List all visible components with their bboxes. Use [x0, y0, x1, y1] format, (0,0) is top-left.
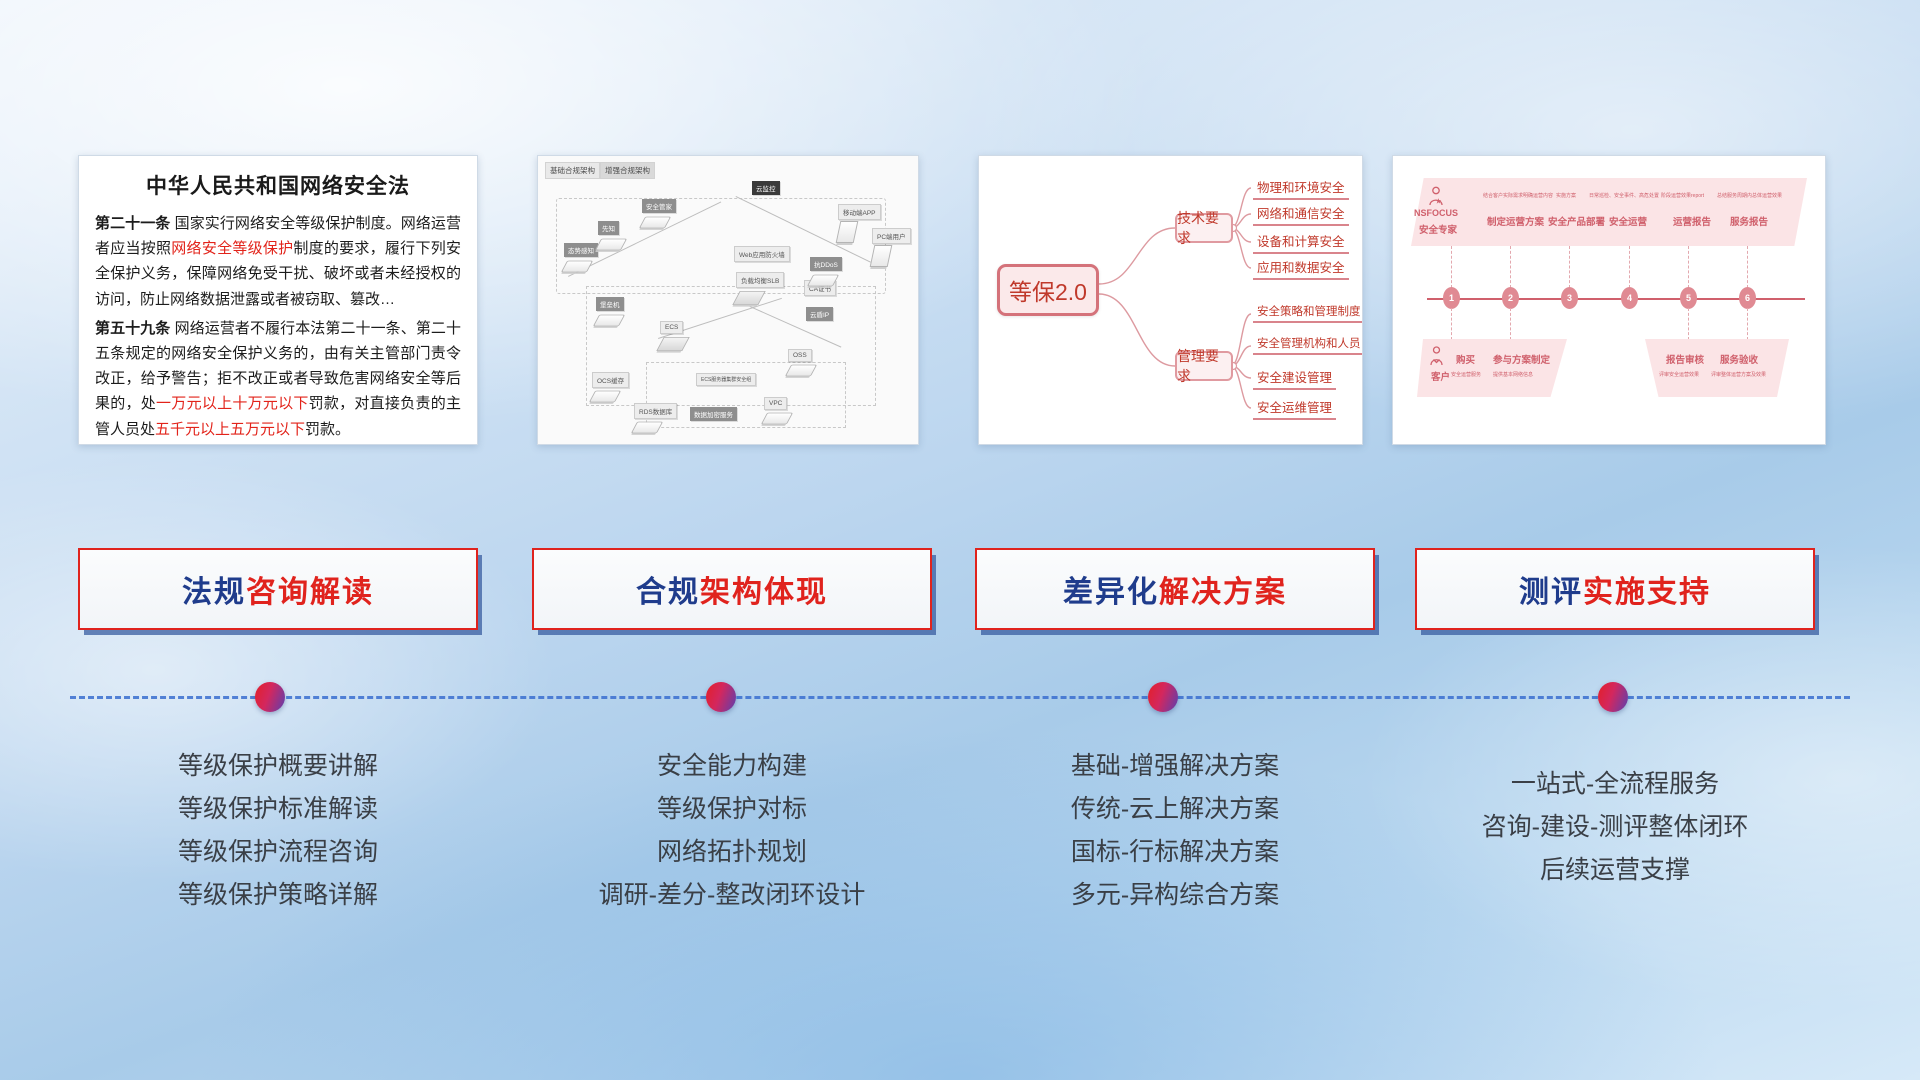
heading-text: 法规咨询解读 — [182, 567, 374, 611]
list-item: 等级保护流程咨询 — [78, 831, 478, 874]
arch-node-xianzhi: 先知 — [598, 218, 624, 252]
customer-label: 客户 — [1431, 369, 1450, 383]
list-item: 国标-行标解决方案 — [975, 831, 1375, 874]
bottom-left-step-2-sub: 提供基本网络信息 — [1493, 371, 1533, 378]
law-article-59-highlight-1: 一万元以上十万元以下 — [156, 395, 309, 412]
law-article-21-label: 第二十一条 — [95, 215, 170, 232]
list-item: 多元-异构综合方案 — [975, 874, 1375, 917]
list-item: 后续运营支撑 — [1415, 849, 1815, 892]
top-step-3-title: 安全运营 — [1609, 214, 1647, 228]
connector-tick — [1510, 246, 1511, 288]
heading-text: 差异化解决方案 — [1063, 567, 1287, 611]
law-article-21-highlight: 网络安全等级保护 — [171, 240, 293, 257]
list-item: 等级保护概要讲解 — [78, 745, 478, 788]
top-step-4-title: 运营报告 — [1673, 214, 1711, 228]
top-step-2-title: 安全产品部署 — [1548, 214, 1605, 228]
law-article-59-text-c: 罚款。 — [305, 421, 350, 438]
top-step-4-sub: 阶段运营效果report — [1661, 192, 1704, 199]
heading-text: 测评实施支持 — [1519, 567, 1711, 611]
list-item: 一站式-全流程服务 — [1415, 763, 1815, 806]
connector-tick — [1747, 308, 1748, 340]
top-step-2-sub: 实施方案 — [1556, 192, 1576, 199]
card-cybersecurity-law: 中华人民共和国网络安全法 第二十一条 国家实行网络安全等级保护制度。网络运营者应… — [78, 155, 478, 445]
heading-box-assessment-support[interactable]: 测评实施支持 — [1415, 548, 1815, 630]
heading-part-b: 实施支持 — [1583, 576, 1711, 609]
bottom-right-step-2-sub: 评审整体运营方案及效果 — [1711, 371, 1766, 378]
top-step-3-sub: 日常巡检、安全事件、高危处置 — [1589, 192, 1659, 199]
heading-part-b: 架构体现 — [700, 576, 828, 609]
customer-band-right — [1645, 339, 1795, 397]
list-item: 咨询-建设-测评整体闭环 — [1415, 806, 1815, 849]
connector-tick — [1569, 246, 1570, 288]
arch-tab-enhanced[interactable]: 增强合规架构 — [600, 162, 655, 179]
mindmap-leaf-security-construction: 安全建设管理 — [1253, 367, 1336, 390]
arch-node-cloud-monitor: 云监控 — [752, 178, 780, 196]
mindmap-branch-management: 管理要求 — [1175, 351, 1233, 381]
heading-part-a: 差异化 — [1063, 576, 1159, 609]
timeline-marker-2[interactable] — [706, 682, 736, 712]
arch-node-anti-ddos: 抗DDoS — [810, 254, 842, 288]
arch-node-data-encryption: 数据加密服务 — [690, 404, 737, 422]
connector-tick — [1510, 308, 1511, 340]
heading-part-b: 解决方案 — [1159, 576, 1287, 609]
bottom-left-step-1-sub: 安全运营服务 — [1451, 371, 1481, 378]
timeline-marker-1[interactable] — [255, 682, 285, 712]
customer-avatar-icon — [1429, 346, 1444, 370]
list-item: 等级保护策略详解 — [78, 874, 478, 917]
mindmap-leaf-security-org-personnel: 安全管理机构和人员 — [1253, 335, 1363, 355]
list-item: 网络拓扑规划 — [532, 831, 932, 874]
timeline-step-1: 1 — [1443, 287, 1460, 309]
law-article-21: 第二十一条 国家实行网络安全等级保护制度。网络运营者应当按照网络安全等级保护制度… — [95, 211, 461, 312]
heading-text: 合规架构体现 — [636, 567, 828, 611]
connector-tick — [1688, 246, 1689, 288]
mindmap-leaf-device-computing: 设备和计算安全 — [1253, 231, 1349, 254]
timeline-step-5: 5 — [1680, 287, 1697, 309]
mindmap-leaf-security-operations: 安全运维管理 — [1253, 397, 1336, 420]
timeline-marker-4[interactable] — [1598, 682, 1628, 712]
connector-tick — [1451, 308, 1452, 340]
arch-node-situational-awareness: 态势感知 — [564, 240, 598, 274]
arch-node-rds-database: RDS数据库 — [634, 401, 677, 435]
arch-node-security-steward: 安全管家 — [642, 196, 676, 230]
law-article-59-label: 第五十九条 — [95, 320, 170, 337]
list-regulation-consulting: 等级保护概要讲解 等级保护标准解读 等级保护流程咨询 等级保护策略详解 — [78, 745, 478, 917]
list-item: 传统-云上解决方案 — [975, 788, 1375, 831]
law-title: 中华人民共和国网络安全法 — [95, 170, 461, 200]
connector-tick — [1629, 246, 1630, 288]
bottom-left-step-2-title: 参与方案制定 — [1493, 352, 1550, 366]
bottom-right-step-1-title: 报告审核 — [1666, 352, 1704, 366]
heading-box-differentiated-solution[interactable]: 差异化解决方案 — [975, 548, 1375, 630]
expert-avatar-icon — [1428, 186, 1444, 210]
list-item: 调研-差分-整改闭环设计 — [532, 874, 932, 917]
heading-box-regulation-consulting[interactable]: 法规咨询解读 — [78, 548, 478, 630]
list-item: 等级保护标准解读 — [78, 788, 478, 831]
arch-node-ecs-security-group: ECS服务器集群安全组 — [696, 368, 756, 386]
list-differentiated-solution: 基础-增强解决方案 传统-云上解决方案 国标-行标解决方案 多元-异构综合方案 — [975, 745, 1375, 917]
mindmap-leaf-application-data: 应用和数据安全 — [1253, 257, 1349, 280]
top-step-5-sub: 总结服务周期内总体运营效果 — [1717, 192, 1782, 199]
nsfocus-expert-line2: 安全专家 — [1419, 222, 1457, 236]
bottom-right-step-2-title: 服务验收 — [1720, 352, 1758, 366]
heading-box-compliance-architecture[interactable]: 合规架构体现 — [532, 548, 932, 630]
card-compliance-architecture: 基础合规架构 增强合规架构 态势感知 先知 安全管家 — [537, 155, 919, 445]
arch-node-oss: OSS — [788, 344, 814, 378]
timeline-marker-3[interactable] — [1148, 682, 1178, 712]
arch-node-ecs: ECS — [660, 316, 686, 353]
nsfocus-expert-line1: NSFOCUS — [1414, 208, 1458, 218]
list-assessment-support: 一站式-全流程服务 咨询-建设-测评整体闭环 后续运营支撑 — [1415, 763, 1815, 892]
mindmap-leaf-physical-environment: 物理和环境安全 — [1253, 177, 1349, 200]
heading-part-a: 法规 — [182, 576, 246, 609]
bottom-right-step-1-sub: 评审安全运营效果 — [1659, 371, 1699, 378]
heading-part-a: 合规 — [636, 576, 700, 609]
timeline-step-6: 6 — [1739, 287, 1756, 309]
list-item: 安全能力构建 — [532, 745, 932, 788]
list-item: 基础-增强解决方案 — [975, 745, 1375, 788]
arch-node-ocs-cache: OCS缓存 — [592, 370, 629, 404]
top-step-1-sub: 结合客户实际需求明确运营内容 — [1483, 192, 1553, 199]
arch-tab-basic[interactable]: 基础合规架构 — [545, 162, 600, 179]
timeline-step-3: 3 — [1561, 287, 1578, 309]
arch-node-slb: 负载均衡SLB — [736, 270, 784, 307]
connector-tick — [1688, 308, 1689, 340]
law-article-59: 第五十九条 网络运营者不履行本法第二十一条、第二十五条规定的网络安全保护义务的，… — [95, 316, 461, 442]
heading-part-a: 测评 — [1519, 576, 1583, 609]
top-step-5-title: 服务报告 — [1730, 214, 1768, 228]
nsfocus-expert-band — [1411, 178, 1807, 246]
arch-node-cloud-shield-ip: 云盾IP — [806, 304, 833, 322]
connector-tick — [1747, 246, 1748, 288]
arch-node-bastion-host: 堡垒机 — [596, 294, 624, 328]
mindmap-branch-technical: 技术要求 — [1175, 213, 1233, 243]
heading-part-b: 咨询解读 — [246, 576, 374, 609]
mindmap-root: 等保2.0 — [997, 264, 1099, 316]
timeline-dashed-line — [70, 696, 1850, 699]
list-item: 等级保护对标 — [532, 788, 932, 831]
timeline-step-4: 4 — [1621, 287, 1638, 309]
arch-node-pc-user: PC端用户 — [872, 226, 911, 267]
card-nsfocus-service-timeline: NSFOCUS 安全专家 结合客户实际需求明确运营内容 制定运营方案 实施方案 … — [1392, 155, 1826, 445]
bottom-left-step-1-title: 购买 — [1456, 352, 1475, 366]
list-compliance-architecture: 安全能力构建 等级保护对标 网络拓扑规划 调研-差分-整改闭环设计 — [532, 745, 932, 917]
arch-node-waf: Web应用防火墙 — [734, 244, 790, 262]
mindmap-leaf-security-policy: 安全策略和管理制度 — [1253, 303, 1363, 323]
card-mindmap-dengbao: 等保2.0 技术要求 管理要求 物理和环境安全 网络和通信安全 设备和计算安全 … — [978, 155, 1363, 445]
top-step-1-title: 制定运营方案 — [1487, 214, 1544, 228]
connector-tick — [1451, 246, 1452, 288]
law-article-59-highlight-2: 五千元以上五万元以下 — [155, 421, 305, 438]
mindmap-leaf-network-communication: 网络和通信安全 — [1253, 203, 1349, 226]
timeline-step-2: 2 — [1502, 287, 1519, 309]
arch-node-vpc: VPC — [764, 392, 790, 426]
